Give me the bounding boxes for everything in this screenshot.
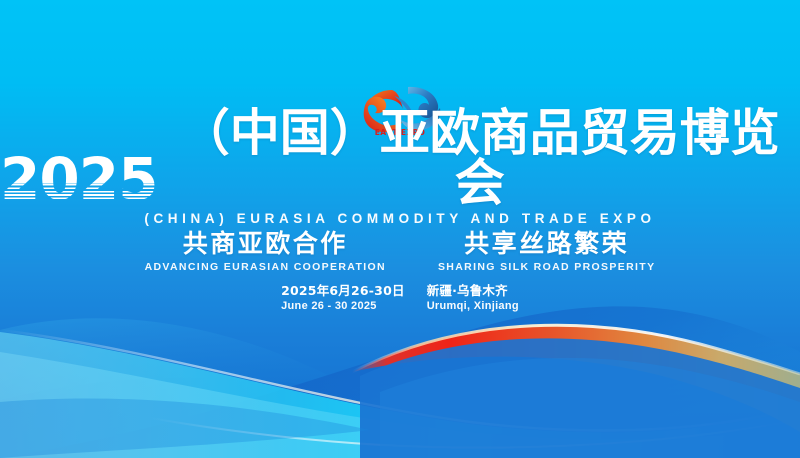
event-venue-chinese: 新疆·乌鲁木齐 [427, 283, 519, 299]
slogan-left: 共商亚欧合作 ADVANCING EURASIAN COOPERATION [145, 230, 386, 273]
event-venue-english: Urumqi, Xinjiang [427, 299, 519, 314]
title-english: (CHINA) EURASIA COMMODITY AND TRADE EXPO [0, 211, 800, 226]
slogan-block: 共商亚欧合作 ADVANCING EURASIAN COOPERATION 共享… [0, 230, 800, 273]
background-wave-artwork [0, 0, 800, 458]
expo-banner: EACT EXPO 2025 （中国）亚欧商品贸易博览会 (CHINA) EUR… [0, 0, 800, 458]
slogan-right-chinese: 共享丝路繁荣 [438, 230, 655, 258]
title-row: 2025 （中国）亚欧商品贸易博览会 [0, 146, 800, 208]
event-meta-block: 2025年6月26-30日 June 26 - 30 2025 新疆·乌鲁木齐 … [0, 283, 800, 313]
event-date-english: June 26 - 30 2025 [281, 299, 405, 314]
slogan-left-english: ADVANCING EURASIAN COOPERATION [145, 261, 386, 273]
slogan-right: 共享丝路繁荣 SHARING SILK ROAD PROSPERITY [438, 230, 655, 273]
event-date: 2025年6月26-30日 June 26 - 30 2025 [281, 283, 405, 313]
title-year: 2025 [0, 150, 159, 208]
headline-block: 2025 （中国）亚欧商品贸易博览会 (CHINA) EURASIA COMMO… [0, 146, 800, 226]
slogan-right-english: SHARING SILK ROAD PROSPERITY [438, 261, 655, 273]
event-date-chinese: 2025年6月26-30日 [281, 283, 405, 299]
title-chinese: （中国）亚欧商品贸易博览会 [159, 108, 800, 208]
slogan-left-chinese: 共商亚欧合作 [145, 230, 386, 258]
event-venue: 新疆·乌鲁木齐 Urumqi, Xinjiang [427, 283, 519, 313]
